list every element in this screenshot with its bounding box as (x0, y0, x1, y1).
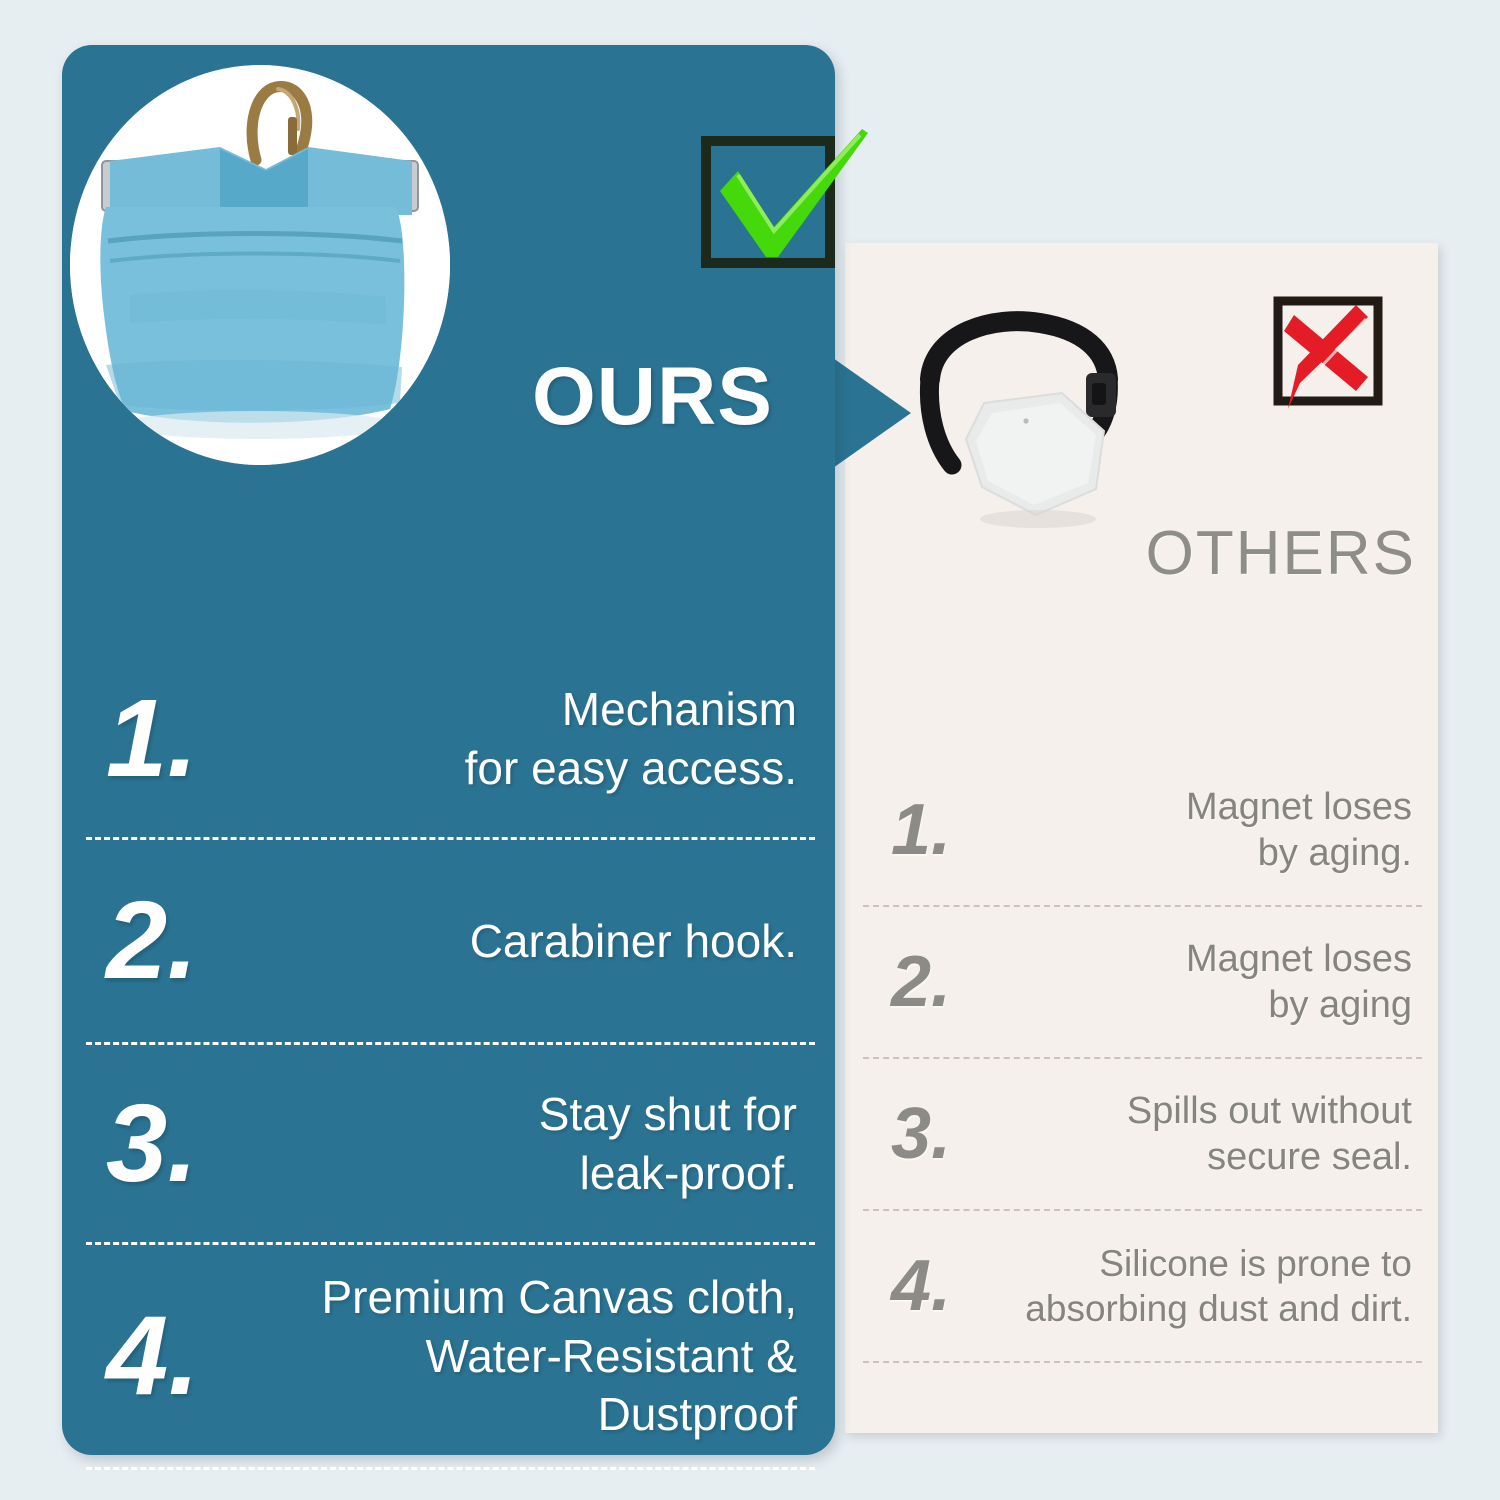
list-item: 4. Silicone is prone to absorbing dust a… (863, 1211, 1422, 1363)
list-item-text: Silicone is prone to absorbing dust and … (968, 1241, 1422, 1331)
list-item-text: Stay shut for leak-proof. (261, 1085, 815, 1202)
ours-product-image (70, 65, 450, 465)
list-item: 1. Mechanism for easy access. (86, 640, 815, 840)
list-item-number: 1. (863, 794, 983, 866)
ours-feature-list: 1. Mechanism for easy access. 2. Carabin… (86, 640, 815, 1470)
list-item-number: 2. (863, 946, 983, 1018)
list-item: 1. Magnet loses by aging. (863, 755, 1422, 907)
list-item: 4. Premium Canvas cloth, Water-Resistant… (86, 1245, 815, 1470)
list-item-text: Magnet loses by aging. (983, 784, 1422, 877)
pointer-arrow-icon (833, 358, 911, 468)
others-feature-list: 1. Magnet loses by aging. 2. Magnet lose… (863, 755, 1422, 1363)
list-item-number: 4. (86, 1300, 261, 1412)
others-product-image (900, 293, 1160, 543)
list-item-text: Magnet loses by aging (983, 936, 1422, 1029)
list-item: 2. Carabiner hook. (86, 840, 815, 1045)
green-checkmark-icon (692, 123, 872, 293)
list-item-number: 2. (86, 886, 261, 996)
ours-title: OURS (532, 350, 773, 444)
list-item-text: Premium Canvas cloth, Water-Resistant & … (261, 1268, 815, 1443)
comparison-infographic: OTHERS 1. Magnet loses by aging. 2. Magn… (0, 0, 1500, 1500)
red-cross-icon (1268, 291, 1390, 413)
list-item: 2. Magnet loses by aging (863, 907, 1422, 1059)
others-panel: OTHERS 1. Magnet loses by aging. 2. Magn… (845, 243, 1438, 1433)
list-item-number: 4. (863, 1250, 968, 1322)
list-item-number: 3. (86, 1089, 261, 1199)
list-item-number: 3. (863, 1098, 983, 1170)
list-item-number: 1. (86, 684, 261, 794)
list-item-text: Mechanism for easy access. (261, 680, 815, 797)
ours-panel: OURS 1. Mechanism for easy access. 2. Ca… (62, 45, 835, 1455)
list-item: 3. Stay shut for leak-proof. (86, 1045, 815, 1245)
others-title: OTHERS (1146, 518, 1416, 589)
list-item: 3. Spills out without secure seal. (863, 1059, 1422, 1211)
list-item-text: Spills out without secure seal. (983, 1088, 1422, 1181)
list-item-text: Carabiner hook. (261, 912, 815, 970)
